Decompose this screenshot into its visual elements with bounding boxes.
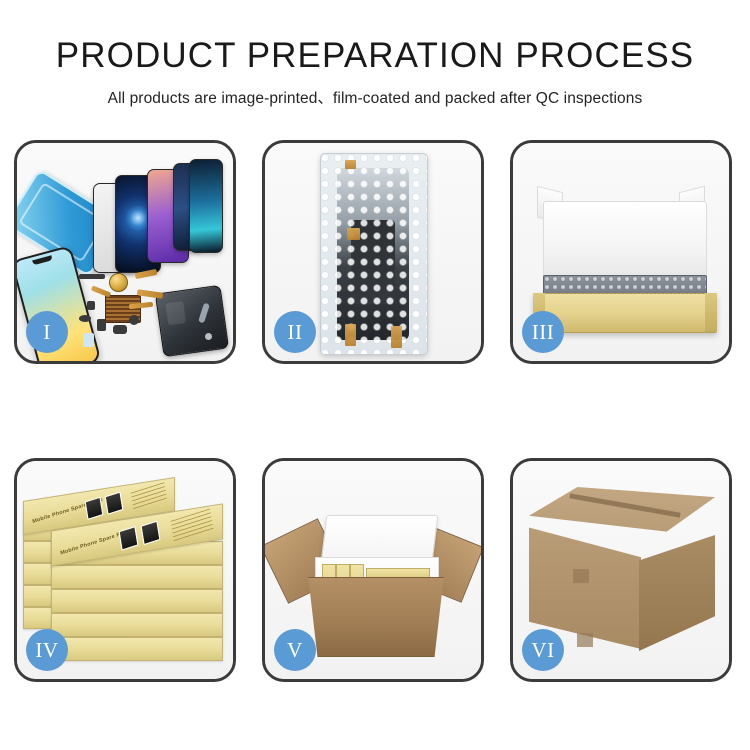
box-screen-thumbnail [105,491,124,514]
carton-tape-patch [573,569,589,583]
spare-part-graphic [113,325,127,334]
lcd-screen-stack-graphic [93,161,221,273]
step-badge-2: II [274,311,316,353]
stacked-box [51,613,223,637]
tape-strip-graphic [345,160,356,169]
step-badge-3: III [522,311,564,353]
step-badge-4: IV [26,629,68,671]
step-badge-6: VI [522,629,564,671]
page-title: PRODUCT PREPARATION PROCESS [0,38,750,73]
spare-part-graphic [79,274,105,279]
sealed-carton-graphic [529,487,715,651]
spare-part-graphic [97,319,106,331]
box-spec-lines [171,508,214,542]
carton-body-graphic [299,577,453,657]
step-badge-1: I [26,311,68,353]
process-step-panel-4[interactable]: Mobile Phone Spare Parts Mobile Phone Sp… [14,458,236,682]
process-step-grid: I II III [14,140,736,682]
stacked-box [51,589,223,613]
white-foam-lid-graphic [543,201,707,281]
tape-strip-graphic [345,324,356,346]
step-badge-5: V [274,629,316,671]
spare-part-graphic [129,315,139,325]
page-header: PRODUCT PREPARATION PROCESS All products… [0,0,750,108]
spare-part-graphic [83,333,94,347]
lcd-teal-graphic [189,159,223,253]
screw-graphic [205,333,212,340]
phone-backplate-graphic [155,285,229,358]
page-subtitle: All products are image-printed、film-coat… [0,86,750,108]
box-screen-thumbnail [141,521,161,546]
process-step-panel-1[interactable]: I [14,140,236,364]
bubble-wrap-bag-graphic [320,153,428,355]
box-screen-thumbnail [119,526,139,551]
spare-part-graphic [87,301,95,310]
process-step-panel-6[interactable]: VI [510,458,732,682]
box-spec-lines [131,482,168,512]
wrapped-screen-graphic [337,168,409,340]
process-step-panel-2[interactable]: II [262,140,484,364]
tape-strip-graphic [347,228,360,240]
carton-tape-patch [577,633,593,647]
process-step-panel-5[interactable]: V [262,458,484,682]
process-step-panel-3[interactable]: III [510,140,732,364]
camera-module-graphic [109,273,128,292]
carton-right-face [639,535,715,651]
tape-strip-graphic [391,326,402,348]
box-screen-thumbnail [85,497,104,520]
flex-cable-graphic [129,302,153,309]
spare-part-graphic [79,315,91,322]
stacked-box [51,565,223,589]
flex-cable-graphic [91,285,111,297]
stacked-box [51,637,223,661]
